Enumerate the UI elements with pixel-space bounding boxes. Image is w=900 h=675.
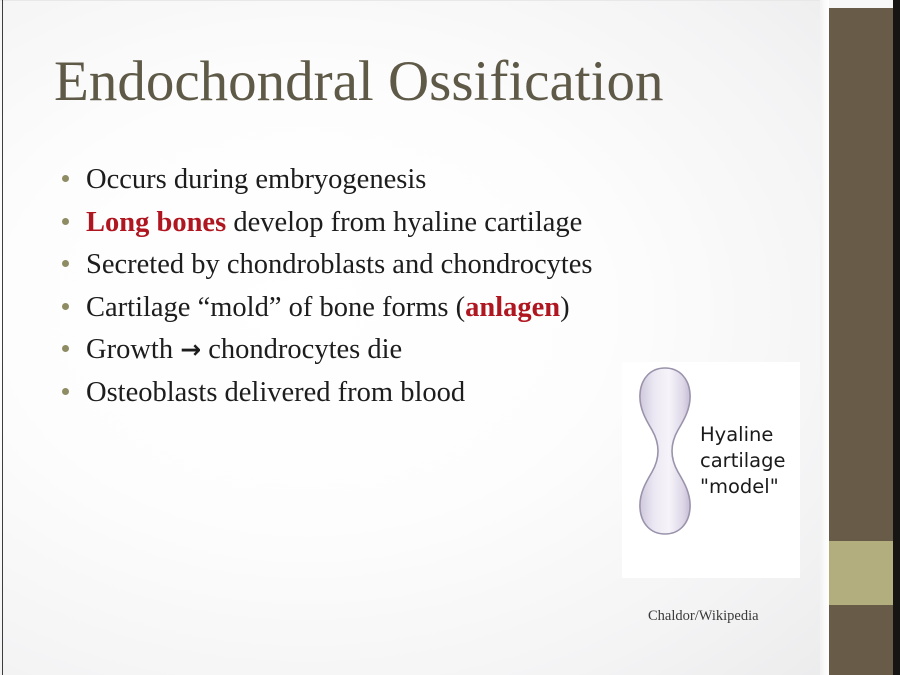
figure-caption-line-1: Hyaline: [700, 422, 800, 448]
rail-gutter: [820, 0, 829, 675]
slide-canvas: Endochondral Ossification Occurs during …: [0, 0, 900, 675]
bullet-text: Long bones develop from hyaline cartilag…: [86, 203, 762, 243]
slide-title: Endochondral Ossification: [54, 52, 784, 112]
list-item: Cartilage “mold” of bone forms (anlagen): [62, 288, 762, 331]
list-item: Occurs during embryogenesis: [62, 160, 762, 203]
sidebar-rail-top-cap: [829, 0, 893, 8]
bullet-dot-icon: [62, 303, 69, 310]
list-item: Secreted by chondroblasts and chondrocyt…: [62, 245, 762, 288]
slide-top-edge: [0, 0, 900, 1]
bullet-dot-icon: [62, 345, 69, 352]
slide-left-edge-line: [2, 0, 3, 675]
list-item: Long bones develop from hyaline cartilag…: [62, 203, 762, 246]
bullet-text: Cartilage “mold” of bone forms (anlagen): [86, 288, 762, 328]
sidebar-rail-accent-block: [829, 541, 893, 605]
figure-caption: Hyaline cartilage "model": [700, 422, 800, 500]
bullet-dot-icon: [62, 260, 69, 267]
bullet-text: Occurs during embryogenesis: [86, 160, 762, 200]
sidebar-rail-shadow: [893, 0, 900, 675]
bullet-dot-icon: [62, 388, 69, 395]
bullet-dot-icon: [62, 175, 69, 182]
bullet-dot-icon: [62, 218, 69, 225]
bullet-text: Secreted by chondroblasts and chondrocyt…: [86, 245, 762, 285]
figure-hyaline-cartilage: Hyaline cartilage "model": [622, 362, 800, 578]
figure-caption-line-2: cartilage: [700, 448, 800, 474]
cartilage-model-icon: [634, 366, 696, 536]
figure-credit: Chaldor/Wikipedia: [648, 608, 759, 625]
figure-caption-line-3: "model": [700, 474, 800, 500]
